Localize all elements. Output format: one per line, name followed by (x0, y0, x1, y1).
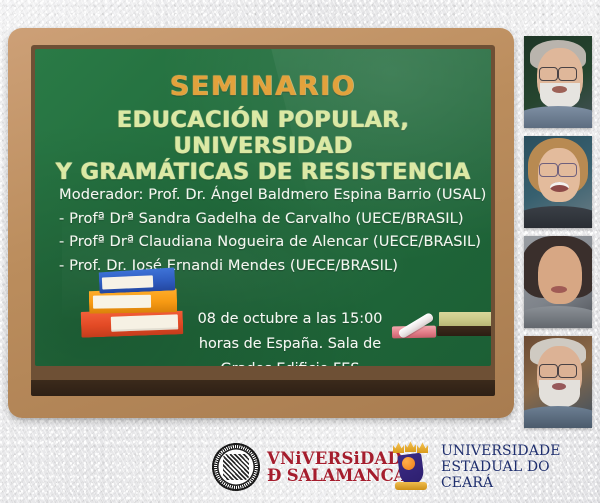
speaker-photo-strip (524, 36, 596, 436)
uece-line-2: ESTADUAL DO CEARÁ (441, 459, 600, 491)
subtitle-line-1: EDUCACIÓN POPULAR, UNIVERSIDAD (35, 107, 491, 159)
avatar (524, 336, 592, 428)
uece-logo: UNIVERSIDADE ESTADUAL DO CEARÁ (388, 441, 600, 493)
avatar (524, 236, 592, 328)
uece-emblem-icon (388, 441, 434, 493)
board-duster-icon (439, 312, 491, 336)
page-title: SEMINARIO (35, 71, 491, 102)
detail-line-3: Grados Edificio FES (145, 357, 435, 366)
list-item: - Profª Drª Claudiana Nogueira de Alenca… (59, 230, 477, 254)
uece-line-1: UNIVERSIDADE (441, 443, 600, 459)
subtitle-line-2: Y GRAMÁTICAS DE RESISTENCIA (35, 159, 491, 185)
list-item: Moderador: Prof. Dr. Ángel Baldmero Espi… (59, 183, 477, 207)
usal-logo: VNiVERSiDAD Ð SALAMANCA (212, 443, 406, 491)
poster-subtitle: EDUCACIÓN POPULAR, UNIVERSIDAD Y GRAMÁTI… (35, 107, 491, 185)
uece-wordmark: UNIVERSIDADE ESTADUAL DO CEARÁ (441, 443, 600, 491)
avatar (524, 36, 592, 128)
usal-line-2: Ð SALAMANCA (267, 467, 406, 484)
seminar-poster: SEMINARIO EDUCACIÓN POPULAR, UNIVERSIDAD… (0, 0, 600, 503)
avatar (524, 136, 592, 228)
usal-wordmark: VNiVERSiDAD Ð SALAMANCA (267, 450, 406, 484)
list-item: - Profª Drª Sandra Gadelha de Carvalho (… (59, 207, 477, 231)
usal-seal-icon (212, 443, 260, 491)
chalkboard-surface: SEMINARIO EDUCACIÓN POPULAR, UNIVERSIDAD… (35, 49, 491, 366)
chalkboard-frame: SEMINARIO EDUCACIÓN POPULAR, UNIVERSIDAD… (8, 28, 514, 418)
book-blue-icon (99, 267, 176, 293)
footer-logos: VNiVERSiDAD Ð SALAMANCA UNIVERSIDADE EST… (0, 439, 600, 497)
books-illustration (81, 256, 187, 336)
chalkboard-ledge (31, 380, 495, 396)
